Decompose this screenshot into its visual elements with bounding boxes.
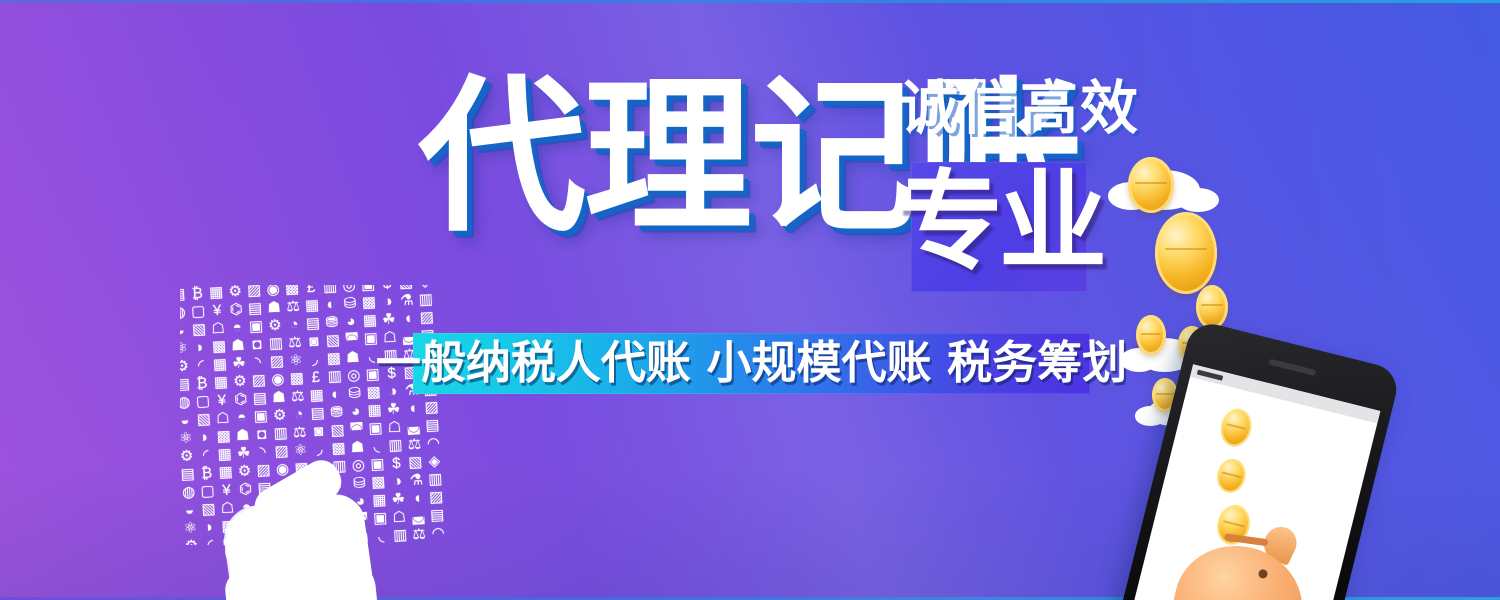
business-icon: ▢ bbox=[193, 392, 213, 411]
business-icon: ☖ bbox=[385, 418, 405, 437]
business-icon: ▥ bbox=[416, 291, 436, 310]
business-icon: ◎ bbox=[344, 366, 364, 385]
business-icon: ⌬ bbox=[231, 390, 251, 409]
business-icon: ⚖ bbox=[288, 387, 308, 406]
business-icon: ⚛ bbox=[286, 351, 306, 370]
business-icon: ⚖ bbox=[405, 435, 425, 454]
business-icon: ◐ bbox=[322, 296, 342, 315]
business-icon: ▤ bbox=[180, 375, 193, 394]
business-icon: ▣ bbox=[366, 419, 386, 438]
business-icon: ◛ bbox=[409, 507, 429, 526]
business-icon: ☖ bbox=[213, 409, 233, 428]
business-icon: ◑ bbox=[379, 293, 399, 312]
business-icon: ◔ bbox=[285, 316, 305, 335]
business-icon: ▢ bbox=[189, 303, 209, 322]
business-icon: ▤ bbox=[246, 300, 266, 319]
business-icon: ◚ bbox=[342, 331, 362, 350]
business-icon: ◝ bbox=[249, 353, 269, 372]
top-edge-line bbox=[0, 0, 1500, 3]
business-icon: ◟ bbox=[367, 437, 387, 456]
business-icon: ◖ bbox=[408, 489, 428, 508]
business-icon: ⛁ bbox=[345, 384, 365, 403]
business-icon: ⚖ bbox=[284, 298, 304, 317]
tagline-text: 诚信高效 bbox=[900, 78, 1140, 138]
hand-holding-megaphone bbox=[200, 460, 390, 600]
business-icon: ◠ bbox=[429, 524, 445, 543]
business-icon: ☘ bbox=[389, 490, 409, 509]
business-icon: ▨ bbox=[272, 442, 292, 461]
business-icon: ◛ bbox=[404, 417, 424, 436]
business-icon: ◓ bbox=[232, 408, 252, 427]
business-icon: ◞ bbox=[305, 350, 325, 369]
business-icon: ⚙ bbox=[270, 406, 290, 425]
business-icon: ◈ bbox=[430, 542, 445, 545]
business-icon: ▩ bbox=[360, 294, 380, 313]
business-icon: ◕ bbox=[346, 402, 366, 421]
business-icon: ⛁ bbox=[341, 295, 361, 314]
business-icon: ▩ bbox=[324, 349, 344, 368]
business-icon: ⚛ bbox=[291, 441, 311, 460]
business-icon: ⚖ bbox=[410, 525, 430, 544]
screen-coin-2 bbox=[1214, 456, 1249, 496]
business-icon: ◗ bbox=[195, 428, 215, 447]
business-icon: ▤ bbox=[180, 465, 198, 484]
business-icon: ▧ bbox=[411, 543, 431, 545]
business-icon: ▥ bbox=[391, 526, 411, 545]
coin-3 bbox=[1196, 285, 1228, 329]
business-icon: ☗ bbox=[343, 348, 363, 367]
business-icon: ◐ bbox=[326, 385, 346, 404]
business-icon: ▥ bbox=[386, 436, 406, 455]
business-icon: ◖ bbox=[398, 310, 418, 329]
business-icon: ⚛ bbox=[181, 519, 201, 538]
business-icon: ◚ bbox=[347, 420, 367, 439]
business-icon: ▨ bbox=[427, 488, 445, 507]
business-icon: ▦ bbox=[365, 401, 385, 420]
business-icon: ⚙ bbox=[266, 317, 286, 336]
business-icon: ◉ bbox=[268, 370, 288, 389]
business-icon: ⚙ bbox=[230, 372, 250, 391]
business-icon: ◒ bbox=[180, 411, 195, 430]
business-icon: ▨ bbox=[249, 371, 269, 390]
business-icon: ⚗ bbox=[397, 292, 417, 311]
promo-banner: ▤₿▦⚙▨◉▩£▥◎▣$▧◈◍▢¥⌬▤☗⚖▦◐⛁▩◑⚗▥◒▧☖◓▣⚙◔▤⛃◕▦☘… bbox=[0, 0, 1500, 600]
professional-badge-box: 专业 bbox=[911, 162, 1087, 292]
business-icon: ☗ bbox=[233, 426, 253, 445]
business-icon: ▩ bbox=[214, 427, 234, 446]
business-icon: ☘ bbox=[379, 311, 399, 330]
business-icon: ⌬ bbox=[227, 301, 247, 320]
coin-1 bbox=[1128, 157, 1174, 213]
business-icon: ◈ bbox=[425, 452, 445, 471]
business-icon: ▧ bbox=[323, 331, 343, 350]
business-icon: ◍ bbox=[180, 393, 194, 412]
business-icon: ◒ bbox=[180, 501, 200, 520]
business-icon: ◙ bbox=[305, 332, 325, 351]
business-icon: ▦ bbox=[211, 355, 231, 374]
business-icon: ▥ bbox=[271, 424, 291, 443]
business-icon: ⚙ bbox=[226, 285, 246, 302]
business-icon: ⛃ bbox=[323, 314, 343, 333]
screen-coin-1 bbox=[1217, 405, 1255, 449]
business-icon: ▧ bbox=[328, 421, 348, 440]
business-icon: ☗ bbox=[229, 336, 249, 355]
business-icon: ☖ bbox=[209, 319, 229, 338]
business-icon: ◠ bbox=[424, 434, 444, 453]
business-icon: ₿ bbox=[193, 374, 213, 393]
business-icon: ▨ bbox=[422, 398, 442, 417]
business-icon: ▤ bbox=[250, 389, 270, 408]
business-icon: ⚗ bbox=[407, 471, 427, 490]
business-icon: ◙ bbox=[309, 422, 329, 441]
business-icon: ⚖ bbox=[290, 423, 310, 442]
business-icon: ☘ bbox=[230, 354, 250, 373]
business-icon: ▦ bbox=[212, 373, 232, 392]
business-icon: ▨ bbox=[417, 309, 437, 328]
business-icon: $ bbox=[392, 544, 412, 545]
business-icon: ▣ bbox=[251, 407, 271, 426]
business-icon: £ bbox=[306, 368, 326, 387]
business-icon: ◘ bbox=[252, 425, 272, 444]
business-icon: ▣ bbox=[247, 317, 267, 336]
business-icon: ◖ bbox=[403, 399, 423, 418]
business-icon: ▤ bbox=[304, 315, 324, 334]
business-icon: ⚙ bbox=[180, 357, 193, 376]
phone-illustration bbox=[1150, 340, 1450, 600]
business-icon: ◔ bbox=[289, 405, 309, 424]
business-icon: ◗ bbox=[191, 338, 211, 357]
phone-status-bar bbox=[1190, 364, 1380, 423]
business-icon: ◍ bbox=[180, 483, 199, 502]
business-icon: ◞ bbox=[310, 440, 330, 459]
business-icon: ¥ bbox=[212, 391, 232, 410]
business-icon: ¥ bbox=[208, 302, 228, 321]
business-icon: ◉ bbox=[264, 285, 284, 300]
business-icon: ₿ bbox=[188, 285, 208, 303]
phone-screen bbox=[1129, 364, 1381, 600]
business-icon: ⚖ bbox=[286, 333, 306, 352]
business-icon: ▧ bbox=[194, 410, 214, 429]
business-icon: ▥ bbox=[267, 334, 287, 353]
business-icon: ☗ bbox=[265, 299, 285, 318]
business-icon: ▩ bbox=[283, 285, 303, 299]
business-icon: £ bbox=[302, 285, 322, 298]
business-icon: ▩ bbox=[210, 337, 230, 356]
business-icon: ▨ bbox=[245, 285, 265, 301]
business-icon: ☗ bbox=[348, 438, 368, 457]
business-icon: ☖ bbox=[390, 508, 410, 527]
services-bar: 一般纳税人代账 小规模代账 税务筹划 bbox=[413, 333, 1090, 394]
business-icon: ◕ bbox=[342, 313, 362, 332]
business-icon: ▥ bbox=[325, 367, 345, 386]
phone-speaker bbox=[1268, 359, 1316, 376]
business-icon: ▦ bbox=[303, 297, 323, 316]
business-icon: ▨ bbox=[268, 352, 288, 371]
business-icon: ⚙ bbox=[180, 447, 197, 466]
services-bar-label: 一般纳税人代账 小规模代账 税务筹划 bbox=[376, 340, 1127, 386]
business-icon: ▧ bbox=[190, 320, 210, 339]
business-icon: ▩ bbox=[287, 369, 307, 388]
smartphone-body bbox=[1113, 319, 1401, 600]
business-icon: ◓ bbox=[228, 318, 248, 337]
business-icon: ▦ bbox=[207, 285, 227, 303]
business-icon: ◜ bbox=[192, 356, 212, 375]
business-icon: ▦ bbox=[360, 312, 380, 331]
business-icon: ☗ bbox=[269, 388, 289, 407]
business-icon: ▦ bbox=[307, 386, 327, 405]
business-icon: ▤ bbox=[423, 416, 443, 435]
piggy-coin-slot bbox=[1224, 533, 1269, 546]
business-icon: ◘ bbox=[248, 335, 268, 354]
business-icon: ▧ bbox=[406, 453, 426, 472]
business-icon: ⛃ bbox=[327, 403, 347, 422]
business-icon: ▤ bbox=[428, 506, 445, 525]
business-icon: ▥ bbox=[426, 470, 445, 489]
piggy-bank bbox=[1162, 509, 1341, 600]
business-icon: ⚛ bbox=[180, 429, 196, 448]
professional-badge-label: 专业 bbox=[895, 169, 1103, 277]
business-icon: ☘ bbox=[384, 400, 404, 419]
business-icon: ◑ bbox=[388, 472, 408, 491]
business-icon: ▤ bbox=[308, 404, 328, 423]
coin-2 bbox=[1155, 212, 1217, 294]
business-icon: ▩ bbox=[329, 439, 349, 458]
business-icon: ⚙ bbox=[182, 537, 202, 545]
